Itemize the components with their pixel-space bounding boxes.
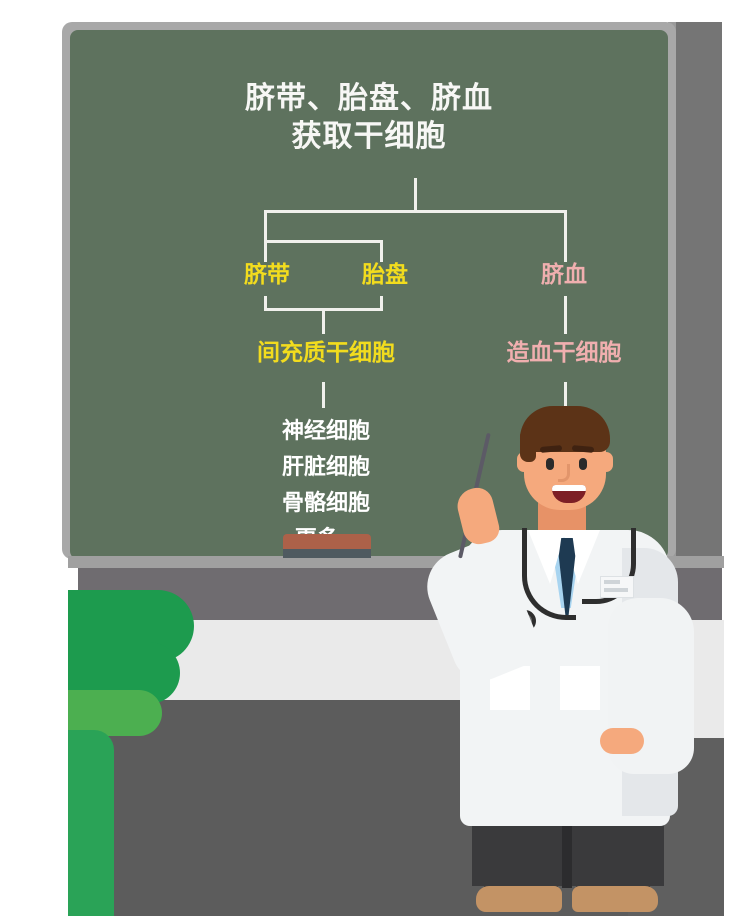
doctor-shoe-right xyxy=(572,886,658,912)
connector-sub-right xyxy=(380,240,383,262)
connector-left-drop xyxy=(264,210,267,241)
board-title: 脐带、胎盘、脐血 获取干细胞 xyxy=(70,80,668,156)
node-hematopoietic-stem-cell: 造血干细胞 xyxy=(474,340,654,365)
node-mesenchymal-stem-cell: 间充质干细胞 xyxy=(236,340,416,365)
eraser-base xyxy=(283,549,371,558)
connector-right-drop xyxy=(564,210,567,262)
doctor-hair-sideburn xyxy=(520,428,536,462)
coat-pocket-right xyxy=(560,666,600,710)
plant-stem xyxy=(68,730,114,916)
potted-plant xyxy=(68,590,208,916)
doctor-hand-right xyxy=(600,728,644,754)
node-cord-blood: 脐血 xyxy=(527,262,601,287)
doctor-eye-right xyxy=(579,458,587,470)
badge-line xyxy=(604,588,628,592)
connector-sub-bar xyxy=(264,240,383,243)
connector-join-drop xyxy=(322,308,325,334)
connector-split-bar xyxy=(264,210,567,213)
doctor-eye-left xyxy=(546,458,554,470)
outcome-item: 骨骼细胞 xyxy=(236,485,416,521)
node-placenta: 胎盘 xyxy=(348,262,422,287)
chalkboard-eraser xyxy=(283,534,371,558)
outcome-item: 肝脏细胞 xyxy=(236,449,416,485)
doctor-shoe-left xyxy=(476,886,562,912)
outcome-item: 神经细胞 xyxy=(236,413,416,449)
doctor-teeth xyxy=(552,485,586,491)
doctor-character xyxy=(432,388,712,916)
connector-sub-left xyxy=(264,240,267,262)
connector-trunk xyxy=(414,178,417,211)
node-umbilical-cord: 脐带 xyxy=(230,262,304,287)
connector-msc-drop xyxy=(322,382,325,408)
badge-line xyxy=(604,580,620,584)
doctor-hand-left xyxy=(454,484,502,547)
connector-right-middle xyxy=(564,296,567,334)
illustration-canvas: 脐带、胎盘、脐血 获取干细胞 脐带 胎盘 脐血 间充质干细胞 造血干细胞 xyxy=(0,0,752,916)
